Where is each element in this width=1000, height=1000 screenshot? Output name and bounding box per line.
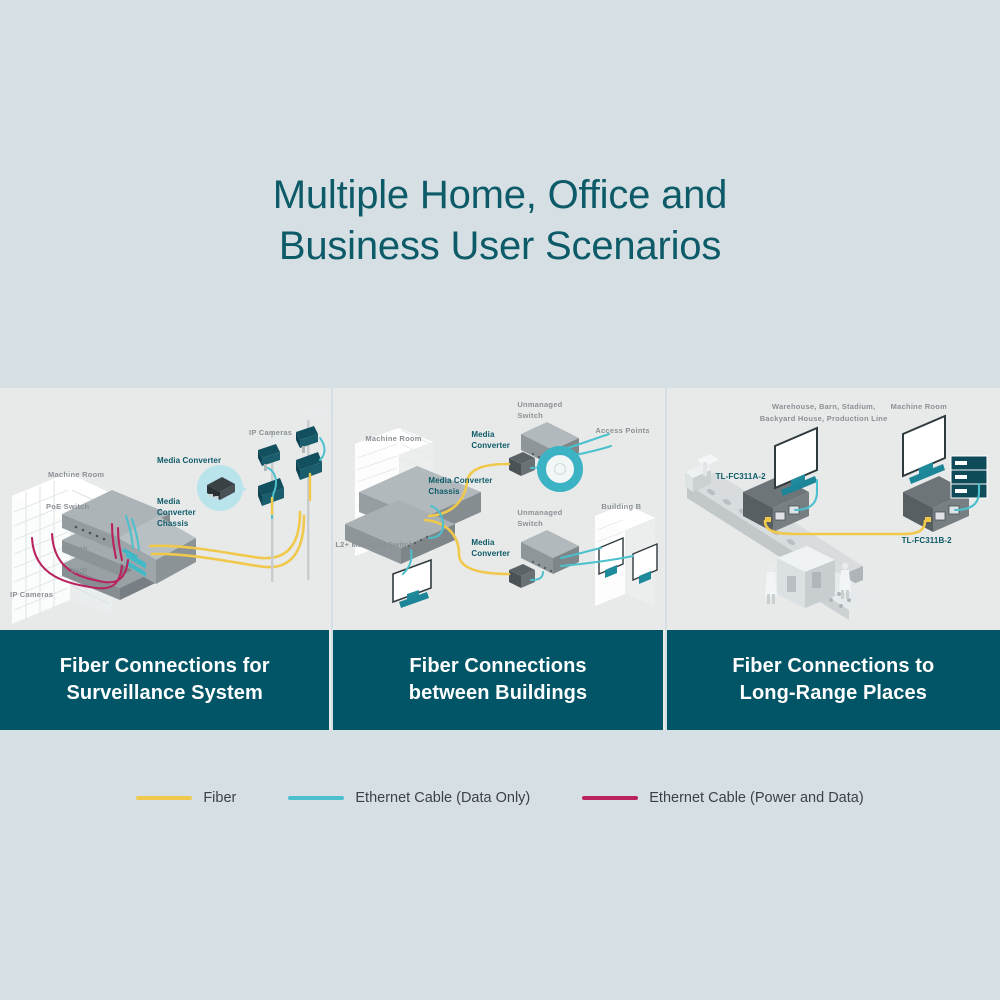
worker-1: [765, 565, 777, 604]
media-converter-top: [509, 452, 535, 476]
label-l2-managed-switch: L2+ Managed Switch: [335, 540, 413, 550]
caption-surveillance: Fiber Connections for Surveillance Syste…: [0, 630, 331, 730]
caption-line-1: Fiber Connections: [409, 653, 587, 680]
label-nvr: NVR: [71, 566, 88, 576]
media-converter-bottom: [509, 564, 535, 588]
label-media-converter-bot-2: Converter: [471, 549, 510, 559]
ip-camera-right-1: [258, 444, 280, 471]
label-mc-chassis-line-1: Media: [157, 497, 180, 507]
label-machine-room-2: Machine Room: [365, 434, 421, 444]
monitor-b: [903, 416, 945, 484]
diagram-surveillance: Machine Room PoE Switch Switch NVR IP Ca…: [0, 388, 331, 630]
label-media-converter: Media Converter: [157, 456, 221, 466]
legend-item-fiber: Fiber: [136, 790, 236, 806]
label-site-line-2: Backyard House, Production Line: [709, 414, 939, 424]
page-title: Multiple Home, Office and Business User …: [0, 170, 1000, 272]
label-device-b: TL-FC311B-2: [902, 536, 952, 546]
legend-item-ethernet-data: Ethernet Cable (Data Only): [288, 790, 530, 806]
monitor-a: [775, 428, 817, 496]
legend-label-ethernet-poe: Ethernet Cable (Power and Data): [649, 790, 863, 806]
label-ip-cameras-left: IP Cameras: [10, 590, 53, 600]
label-mc-chassis-2-line-1: Media Converter: [428, 476, 492, 486]
panel-buildings: Machine Room L2+ Managed Switch Media Co…: [333, 388, 666, 730]
label-switch: Switch: [62, 544, 88, 554]
label-device-a: TL-FC311A-2: [716, 472, 766, 482]
legend-swatch-ethernet-poe: [582, 796, 638, 800]
page-title-line-1: Multiple Home, Office and: [0, 170, 1000, 221]
caption-text: Fiber Connections to Long-Range Places: [732, 653, 934, 707]
label-mc-chassis-2-line-2: Chassis: [428, 487, 459, 497]
label-unmanaged-switch-bot-2: Switch: [517, 519, 543, 529]
label-media-converter-bot-1: Media: [471, 538, 494, 548]
server-rack: [951, 456, 987, 498]
caption-long-range: Fiber Connections to Long-Range Places: [667, 630, 1000, 730]
legend-item-ethernet-poe: Ethernet Cable (Power and Data): [582, 790, 863, 806]
label-unmanaged-switch-bot-1: Unmanaged: [517, 508, 562, 518]
panel-long-range: Warehouse, Barn, Stadium, Backyard House…: [667, 388, 1000, 730]
label-poe-switch: PoE Switch: [46, 502, 89, 512]
caption-line-1: Fiber Connections to: [732, 653, 934, 680]
panel-surveillance: Machine Room PoE Switch Switch NVR IP Ca…: [0, 388, 333, 730]
label-ip-cameras-right: IP Cameras: [249, 428, 292, 438]
caption-line-2: between Buildings: [409, 680, 587, 707]
diagram-long-range: Warehouse, Barn, Stadium, Backyard House…: [667, 388, 1000, 630]
building-b: [595, 504, 657, 606]
legend-swatch-ethernet-data: [288, 796, 344, 800]
caption-line-1: Fiber Connections for: [60, 653, 270, 680]
label-machine-room-3: Machine Room: [891, 402, 947, 412]
monitor-left: [393, 560, 431, 608]
label-mc-chassis-line-2: Converter: [157, 508, 196, 518]
legend: Fiber Ethernet Cable (Data Only) Etherne…: [0, 790, 1000, 806]
legend-label-ethernet-data: Ethernet Cable (Data Only): [355, 790, 530, 806]
label-building-b: Building B: [601, 502, 641, 512]
caption-line-2: Surveillance System: [60, 680, 270, 707]
scenario-panels: Machine Room PoE Switch Switch NVR IP Ca…: [0, 388, 1000, 730]
caption-text: Fiber Connections for Surveillance Syste…: [60, 653, 270, 707]
long-range-illustration: [667, 388, 1000, 630]
caption-buildings: Fiber Connections between Buildings: [333, 630, 664, 730]
label-unmanaged-switch-top-1: Unmanaged: [517, 400, 562, 410]
caption-text: Fiber Connections between Buildings: [409, 653, 587, 707]
label-machine-room: Machine Room: [48, 470, 104, 480]
caption-line-2: Long-Range Places: [732, 680, 934, 707]
label-media-converter-top-2: Converter: [471, 441, 510, 451]
media-converter-device-icon: [204, 474, 238, 504]
legend-label-fiber: Fiber: [203, 790, 236, 806]
diagram-buildings: Machine Room L2+ Managed Switch Media Co…: [333, 388, 664, 630]
legend-swatch-fiber: [136, 796, 192, 800]
page-title-line-2: Business User Scenarios: [0, 221, 1000, 272]
label-mc-chassis-line-3: Chassis: [157, 519, 188, 529]
label-unmanaged-switch-top-2: Switch: [517, 411, 543, 421]
label-media-converter-top-1: Media: [471, 430, 494, 440]
label-access-points: Access Points: [595, 426, 650, 436]
